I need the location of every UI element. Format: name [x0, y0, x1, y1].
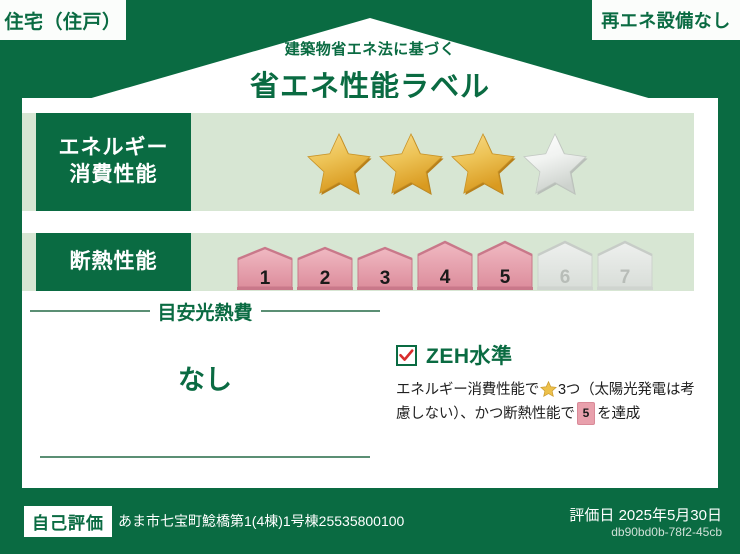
insulation-level-number: 4 [416, 267, 474, 289]
cost-rule-left [30, 310, 150, 312]
badge-renewable-energy: 再エネ設備なし [592, 0, 740, 40]
insulation-level-number: 7 [596, 267, 654, 289]
energy-row-label: エネルギー 消費性能 [36, 113, 191, 211]
cost-title: 目安光熱費 [158, 298, 253, 325]
insulation-label-text: 断熱性能 [70, 249, 158, 276]
evaluation-date: 評価日 2025年5月30日 [569, 504, 722, 525]
insulation-level-6: 6 [536, 240, 594, 290]
self-evaluation-badge: 自己評価 [24, 506, 112, 537]
zeh-header: ZEH水準 [396, 340, 706, 370]
check-icon [396, 345, 417, 366]
insulation-level-number: 6 [536, 267, 594, 289]
badge-building-type: 住宅（住戸） [0, 0, 126, 40]
energy-label-card: 住宅（住戸） 再エネ設備なし 建築物省エネ法に基づく 省エネ性能ラベル エネルギ… [0, 0, 740, 554]
insulation-level-number: 1 [236, 268, 294, 290]
zeh-desc-part1: エネルギー消費性能で [396, 382, 539, 398]
insulation-level-number: 3 [356, 268, 414, 290]
zeh-desc-part3: を達成 [597, 406, 640, 422]
star-empty-icon [521, 131, 589, 196]
star-icon [540, 381, 557, 397]
zeh-block: ZEH水準 エネルギー消費性能で3つ（太陽光発電は考慮しない）、かつ断熱性能で5… [396, 340, 706, 426]
insulation-level-1: 1 [236, 246, 294, 290]
insulation-scale: 1234567 [236, 238, 656, 290]
insulation-level-number: 5 [476, 267, 534, 289]
zeh-description: エネルギー消費性能で3つ（太陽光発電は考慮しない）、かつ断熱性能で5を達成 [396, 379, 706, 426]
energy-label-line2: 消費性能 [70, 162, 158, 189]
property-address: あま市七宝町鯰橋第1(4棟)1号棟25535800100 [118, 511, 404, 531]
star-filled-icon [305, 131, 373, 196]
insulation-level-3: 3 [356, 246, 414, 290]
star-filled-icon [449, 131, 517, 196]
cost-header: 目安光熱費 [30, 300, 380, 322]
star-rating [305, 134, 605, 192]
title-subtitle: 建築物省エネ法に基づく [0, 38, 740, 59]
cost-rule-right [261, 310, 381, 312]
cost-value: なし [30, 358, 380, 397]
star-filled-icon [377, 131, 445, 196]
zeh-title: ZEH水準 [426, 340, 513, 370]
footer: 自己評価 あま市七宝町鯰橋第1(4棟)1号棟25535800100 評価日 20… [0, 498, 740, 554]
evaluation-id: db90bd0b-78f2-45cb [611, 525, 722, 539]
cost-bottom-rule [40, 456, 370, 458]
insulation-level-7: 7 [596, 240, 654, 290]
title-block: 建築物省エネ法に基づく 省エネ性能ラベル [0, 38, 740, 105]
insulation-level-4: 4 [416, 240, 474, 290]
insulation-level-number: 2 [296, 268, 354, 290]
insulation-level-2: 2 [296, 246, 354, 290]
insulation-row-label: 断熱性能 [36, 233, 191, 291]
energy-label-line1: エネルギー [59, 135, 169, 162]
zeh-level-badge: 5 [577, 402, 595, 425]
insulation-level-5: 5 [476, 240, 534, 290]
